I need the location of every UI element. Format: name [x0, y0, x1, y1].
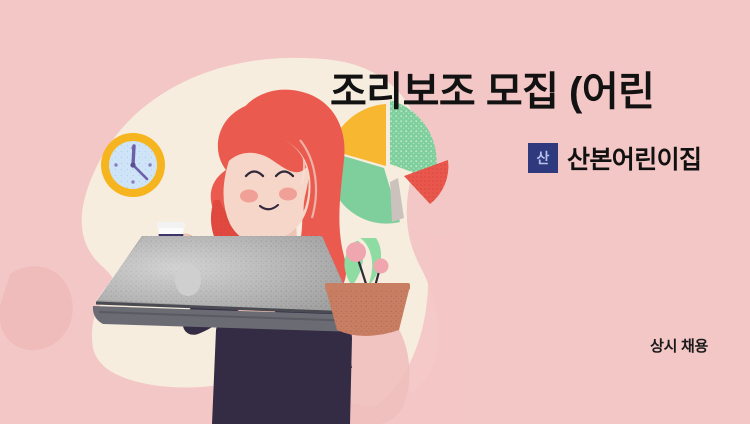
organization-name: 산본어린이집 [567, 140, 701, 176]
organization-badge-icon: 산 [528, 143, 558, 173]
page-title: 조리보조 모집 (어린 [330, 69, 750, 115]
organization-row: 산 산본어린이집 [528, 140, 701, 176]
laptop-graphic [93, 236, 366, 332]
job-posting-banner: 조리보조 모집 (어린 산 산본어린이집 상시 채용 [0, 0, 750, 424]
illustration-artwork [0, 0, 750, 424]
hiring-status-note: 상시 채용 [0, 335, 708, 356]
wall-clock-graphic [101, 133, 165, 197]
